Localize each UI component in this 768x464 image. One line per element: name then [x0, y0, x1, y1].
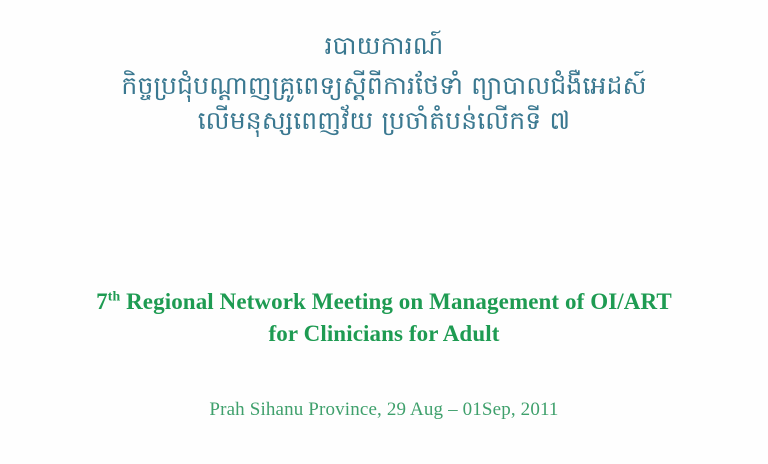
khmer-title-line-3: លើមនុស្សពេញវ័យ ប្រចាំតំបន់លើកទី ៧	[0, 103, 768, 139]
ordinal-number: 7	[96, 289, 108, 314]
english-title-block: 7th Regional Network Meeting on Manageme…	[0, 286, 768, 349]
english-title-line-1: 7th Regional Network Meeting on Manageme…	[0, 286, 768, 318]
venue-date-block: Prah Sihanu Province, 29 Aug – 01Sep, 20…	[0, 398, 768, 423]
venue-date-text: Prah Sihanu Province, 29 Aug – 01Sep, 20…	[0, 398, 768, 423]
khmer-title-line-2: កិច្ចប្រជុំបណ្តាញគ្រូពេទ្យស្តីពីការថែទាំ…	[0, 68, 768, 104]
english-title-line-2: for Clinicians for Adult	[0, 318, 768, 350]
english-title-line-1-rest: Regional Network Meeting on Management o…	[120, 289, 672, 314]
ordinal-suffix: th	[108, 288, 120, 303]
khmer-title-line-1: របាយការណ៍	[0, 28, 768, 64]
title-slide: របាយការណ៍ កិច្ចប្រជុំបណ្តាញគ្រូពេទ្យស្តី…	[0, 0, 768, 464]
khmer-title-block: របាយការណ៍ កិច្ចប្រជុំបណ្តាញគ្រូពេទ្យស្តី…	[0, 28, 768, 139]
